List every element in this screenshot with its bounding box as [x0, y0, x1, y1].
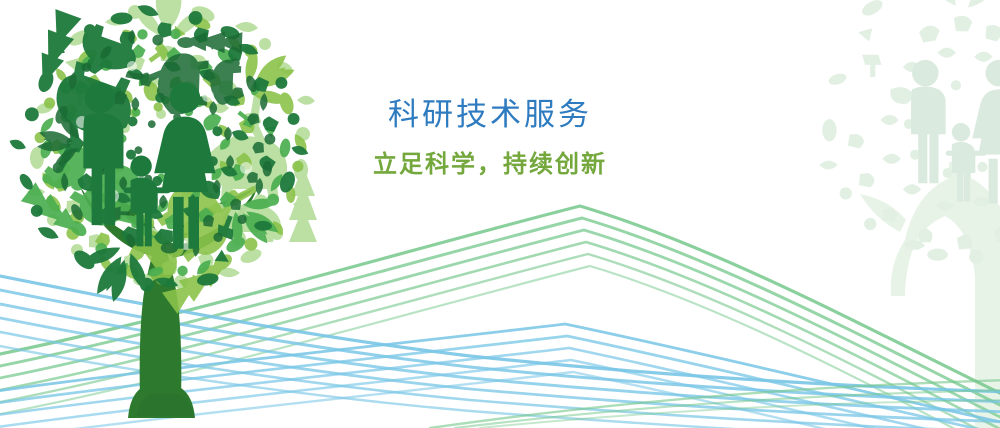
family-silhouette-icon [83, 82, 215, 248]
tree-trunk [84, 188, 256, 418]
hero-banner: 科研技术服务 立足科学，持续创新 [0, 0, 1000, 428]
tree-icon [0, 0, 1000, 428]
banner-text-block: 科研技术服务 立足科学，持续创新 [330, 96, 650, 180]
page-subtitle: 立足科学，持续创新 [330, 150, 650, 180]
tree-ghost-group [819, 0, 1000, 428]
tree-branches [80, 186, 258, 258]
flowing-lines-icon [0, 0, 1000, 428]
canopy-mosaic-icon [0, 0, 371, 347]
page-title: 科研技术服务 [330, 96, 650, 134]
tree-ghost-icon [0, 0, 1000, 428]
